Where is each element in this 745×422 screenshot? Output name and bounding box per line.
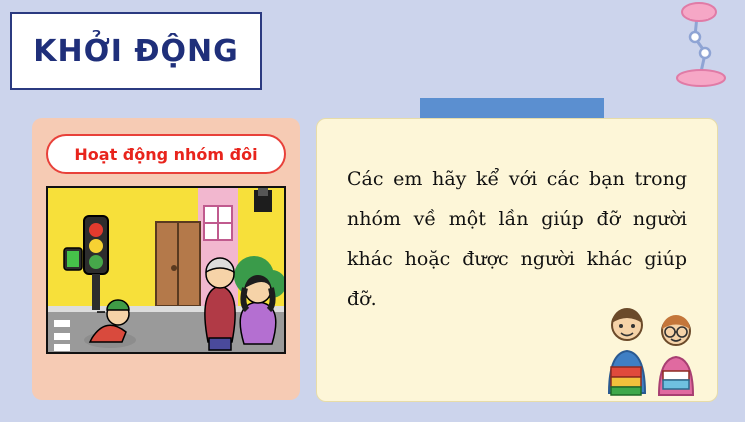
instruction-card: Các em hãy kể với các bạn trong nhóm về … (316, 118, 718, 402)
page-title: KHỞI ĐỘNG (33, 34, 239, 69)
desk-lamp-icon (635, 2, 731, 94)
traffic-scene-illustration (46, 186, 286, 354)
instruction-text: Các em hãy kể với các bạn trong nhóm về … (347, 159, 687, 319)
activity-card: Hoạt động nhóm đôi (32, 118, 300, 400)
two-students-icon (591, 301, 711, 397)
status-badge: Hoạt động nhóm đôi (46, 134, 286, 174)
slide-root: KHỞI ĐỘNG Hoạt động nhóm đôi (0, 0, 745, 422)
slide-title-box: KHỞI ĐỘNG (10, 12, 262, 90)
activity-badge-label: Hoạt động nhóm đôi (74, 145, 257, 164)
